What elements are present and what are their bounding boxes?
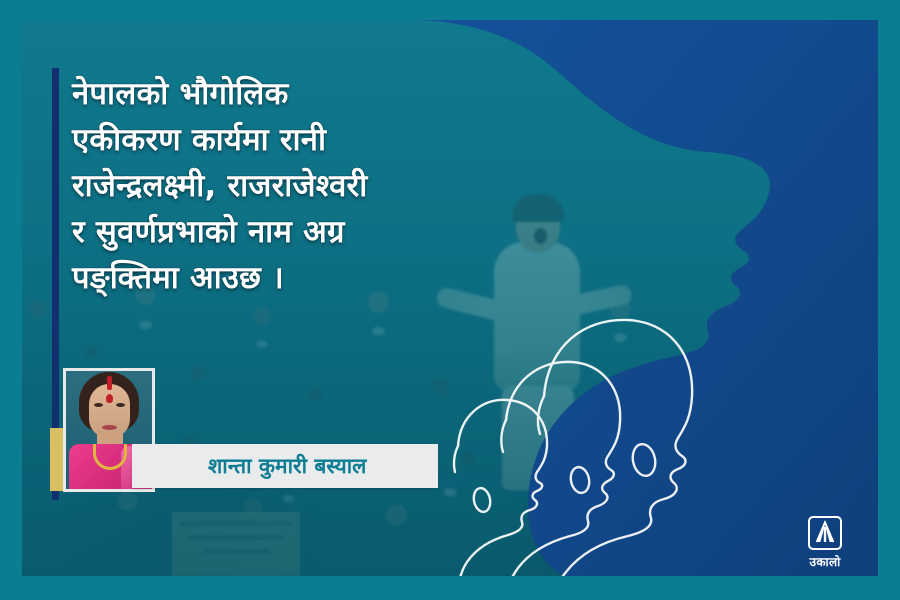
- headline-line: राजेन्द्रलक्ष्मी, राजराजेश्वरी: [72, 164, 592, 210]
- headline-line: नेपालको भौगोलिक: [72, 72, 592, 118]
- headline: नेपालको भौगोलिक एकीकरण कार्यमा रानी राजे…: [72, 72, 592, 301]
- uphill-road-icon: [808, 516, 842, 550]
- frame-border-top: [0, 0, 900, 20]
- frame-border-left: [0, 0, 22, 600]
- author-name: शान्ता कुमारी बस्याल: [132, 444, 438, 488]
- frame-border-right: [878, 0, 900, 600]
- headline-line: पङ्क्तिमा आउछ ।: [72, 256, 592, 302]
- brand-logo[interactable]: उकालो: [796, 516, 854, 570]
- three-women-profiles-lineart-icon: [452, 300, 742, 576]
- brand-name: उकालो: [796, 553, 854, 570]
- article-cover-card: नेपालको भौगोलिक एकीकरण कार्यमा रानी राजे…: [0, 0, 900, 600]
- frame-border-bottom: [0, 576, 900, 600]
- headline-line: एकीकरण कार्यमा रानी: [72, 118, 592, 164]
- headline-line: र सुवर्णप्रभाको नाम अग्र: [72, 210, 592, 256]
